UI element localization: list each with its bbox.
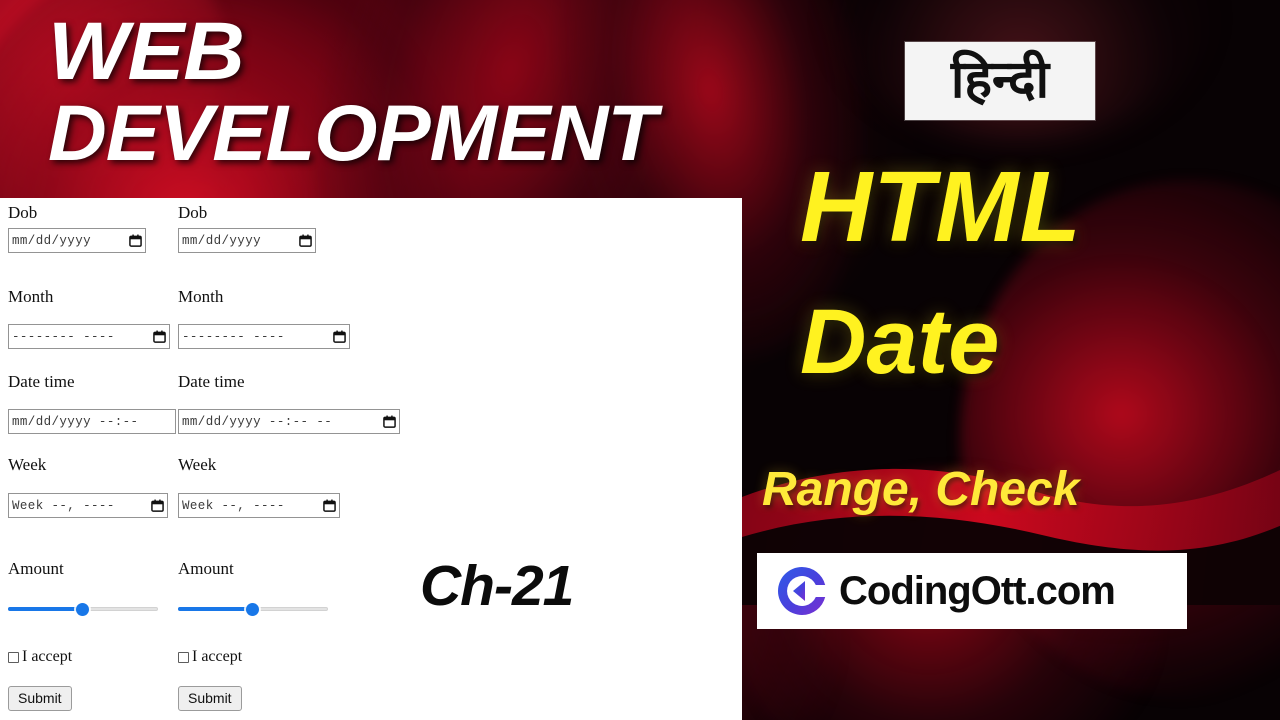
field-label-month-left: Month	[8, 288, 53, 305]
language-badge-label: हिन्दी	[951, 55, 1049, 107]
accept-checkbox-label: I accept	[192, 648, 242, 666]
slider-fill	[178, 607, 253, 611]
input-placeholder-text: -------- ----	[182, 330, 285, 344]
input-date-right[interactable]: mm/dd/yyyy	[178, 228, 316, 253]
input-week-left[interactable]: Week --, ----	[8, 493, 168, 518]
field-label-range-left: Amount	[8, 560, 64, 577]
input-placeholder-text: mm/dd/yyyy	[12, 234, 91, 248]
title-tertiary: Range, Check	[762, 462, 1079, 517]
brand-name: CodingOtt.com	[839, 569, 1115, 614]
input-placeholder-text: mm/dd/yyyy --:-- --	[182, 415, 332, 429]
input-month-right[interactable]: -------- ----	[178, 324, 350, 349]
range-slider-left[interactable]	[8, 602, 158, 616]
field-label-month-right: Month	[178, 288, 223, 305]
headline-line-2: DEVELOPMENT	[48, 97, 810, 170]
accept-checkbox-label: I accept	[22, 648, 72, 666]
field-label-datetime-local-left: Date time	[8, 373, 75, 390]
calendar-icon[interactable]	[147, 330, 166, 343]
submit-button-left[interactable]: Submit	[8, 686, 72, 711]
calendar-icon[interactable]	[327, 330, 346, 343]
slider-thumb[interactable]	[246, 603, 259, 616]
field-label-date-right: Dob	[178, 204, 207, 221]
accept-checkbox[interactable]	[178, 652, 189, 663]
brand-logo-bar: CodingOtt.com	[757, 553, 1187, 629]
field-label-date-left: Dob	[8, 204, 37, 221]
input-date-left[interactable]: mm/dd/yyyy	[8, 228, 146, 253]
field-label-week-left: Week	[8, 456, 46, 473]
title-sub: Date	[800, 290, 999, 395]
submit-button-right[interactable]: Submit	[178, 686, 242, 711]
codingott-circle-play-icon	[775, 564, 829, 618]
accept-checkbox[interactable]	[8, 652, 19, 663]
headline-line-1: WEB	[48, 14, 818, 89]
input-datetime-local-right[interactable]: mm/dd/yyyy --:-- --	[178, 409, 400, 434]
headline: WEB DEVELOPMENT	[48, 14, 788, 170]
title-main: HTML	[800, 150, 1082, 265]
calendar-icon[interactable]	[123, 234, 142, 247]
field-label-datetime-local-right: Date time	[178, 373, 245, 390]
language-badge: हिन्दी	[905, 42, 1095, 120]
input-placeholder-text: mm/dd/yyyy	[182, 234, 261, 248]
input-week-right[interactable]: Week --, ----	[178, 493, 340, 518]
field-label-range-right: Amount	[178, 560, 234, 577]
input-month-left[interactable]: -------- ----	[8, 324, 170, 349]
calendar-icon[interactable]	[145, 499, 164, 512]
calendar-icon[interactable]	[377, 415, 396, 428]
chapter-badge: Ch-21	[420, 553, 573, 619]
input-placeholder-text: Week --, ----	[12, 499, 115, 513]
accept-checkbox-row-left[interactable]: I accept	[8, 648, 72, 666]
thumbnail-canvas: WEB DEVELOPMENT Dobmm/dd/yyyyMonth------…	[0, 0, 1280, 720]
input-datetime-local-left[interactable]: mm/dd/yyyy --:--	[8, 409, 176, 434]
range-slider-right[interactable]	[178, 602, 328, 616]
form-screenshot-panel: Dobmm/dd/yyyyMonth-------- ----Date time…	[0, 198, 742, 720]
slider-fill	[8, 607, 83, 611]
input-placeholder-text: mm/dd/yyyy --:--	[12, 415, 138, 429]
input-placeholder-text: Week --, ----	[182, 499, 285, 513]
accept-checkbox-row-right[interactable]: I accept	[178, 648, 242, 666]
slider-thumb[interactable]	[76, 603, 89, 616]
input-placeholder-text: -------- ----	[12, 330, 115, 344]
calendar-icon[interactable]	[317, 499, 336, 512]
calendar-icon[interactable]	[293, 234, 312, 247]
field-label-week-right: Week	[178, 456, 216, 473]
